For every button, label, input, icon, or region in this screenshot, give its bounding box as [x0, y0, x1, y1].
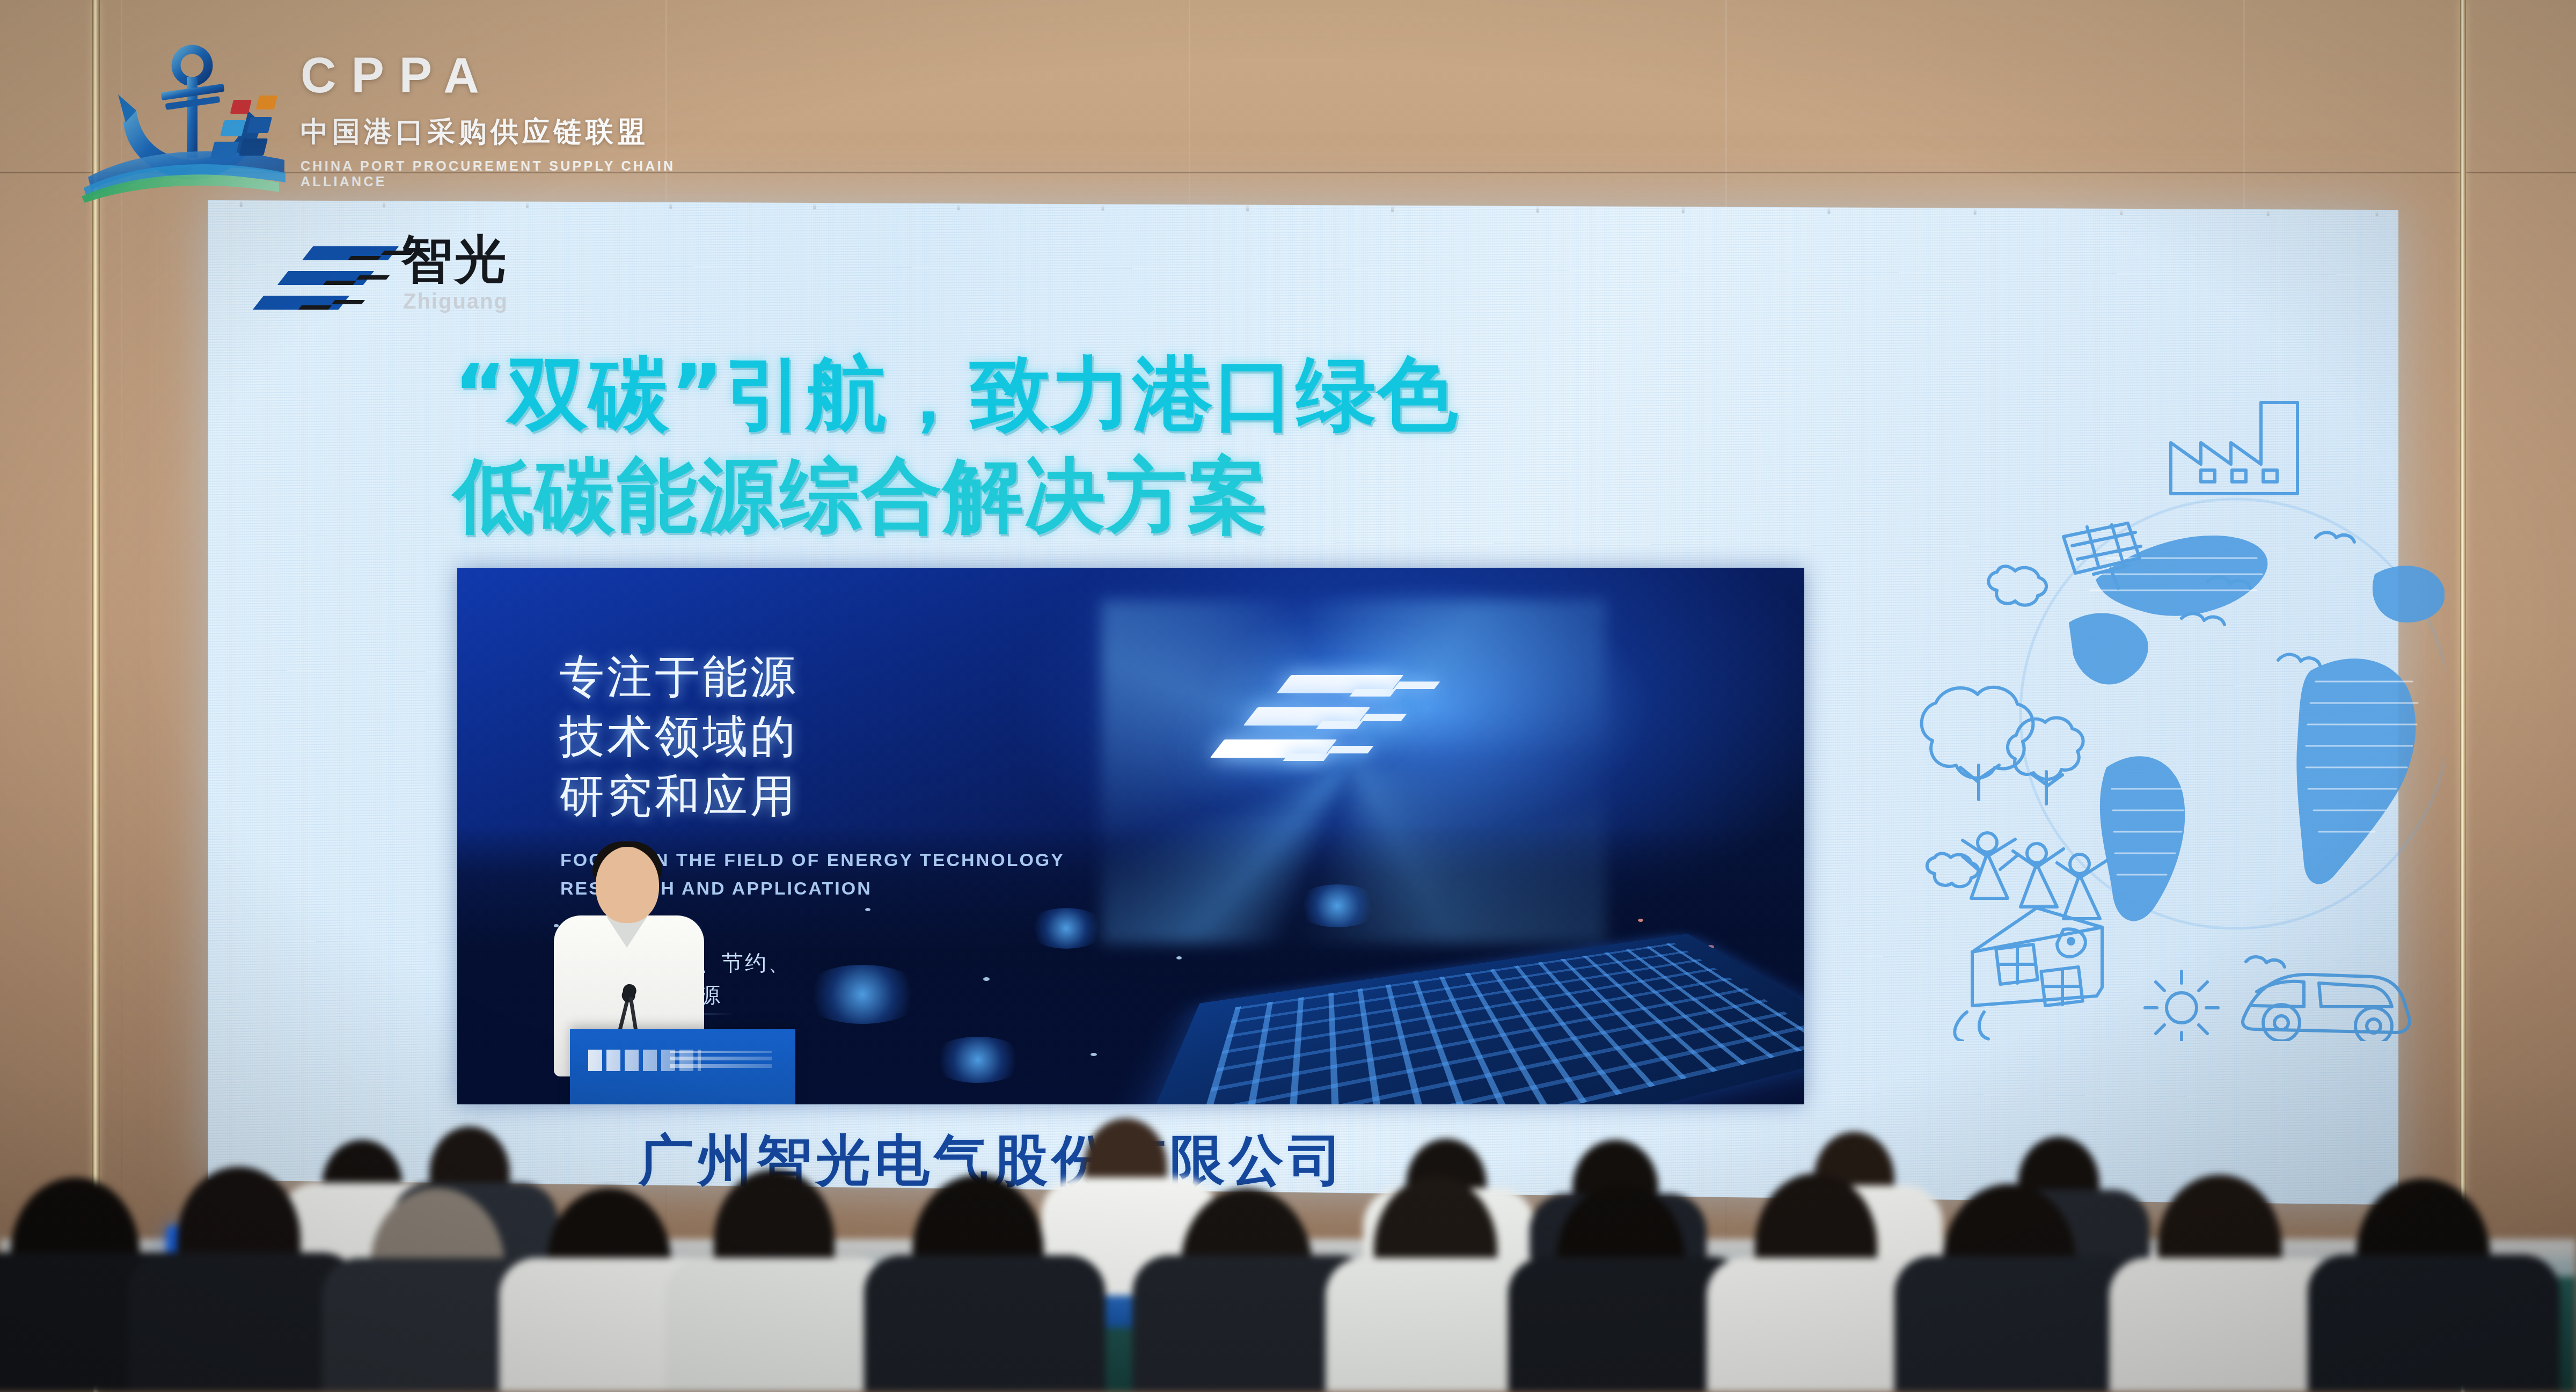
audience	[0, 1059, 2576, 1392]
slide-image-panel: 专注于能源 技术领域的 研究和应用 FOCUS ON THE FIELD OF …	[457, 568, 1804, 1104]
conference-photo-scene: CPPA 中国港口采购供应链联盟 CHINA PORT PROCUREMENT …	[0, 0, 2576, 1392]
zhiguang-slide-logo: 智光 Zhiguang	[244, 233, 545, 327]
slide-title-line1: “双碳”引航，致力港口绿色	[453, 343, 1849, 445]
anchor-icon	[80, 42, 295, 203]
cppa-chinese-name: 中国港口采购供应链联盟	[301, 113, 703, 151]
panel-headline: 专注于能源 技术领域的 研究和应用	[559, 647, 798, 826]
cppa-acronym: CPPA	[301, 47, 703, 104]
eco-globe-illustration	[1902, 370, 2445, 1041]
zhiguang-glowing-logo-icon	[1203, 670, 1504, 847]
panel-headline-line2: 技术领域的	[559, 707, 798, 766]
cppa-english-name: CHINA PORT PROCUREMENT SUPPLY CHAIN ALLI…	[301, 158, 703, 189]
speaker-head	[596, 847, 659, 923]
slide-title-line2: 低碳能源综合解决方案	[453, 445, 1849, 546]
panel-headline-line1: 专注于能源	[559, 647, 798, 707]
cppa-wall-logo: CPPA 中国港口采购供应链联盟 CHINA PORT PROCUREMENT …	[80, 42, 703, 203]
slide-title: “双碳”引航，致力港口绿色 低碳能源综合解决方案	[453, 343, 1849, 546]
zhiguang-pinyin: Zhiguang	[403, 289, 508, 313]
panel-headline-line3: 研究和应用	[559, 766, 798, 826]
zhiguang-bars-icon	[244, 241, 394, 321]
zhiguang-chinese: 智光	[401, 233, 508, 285]
